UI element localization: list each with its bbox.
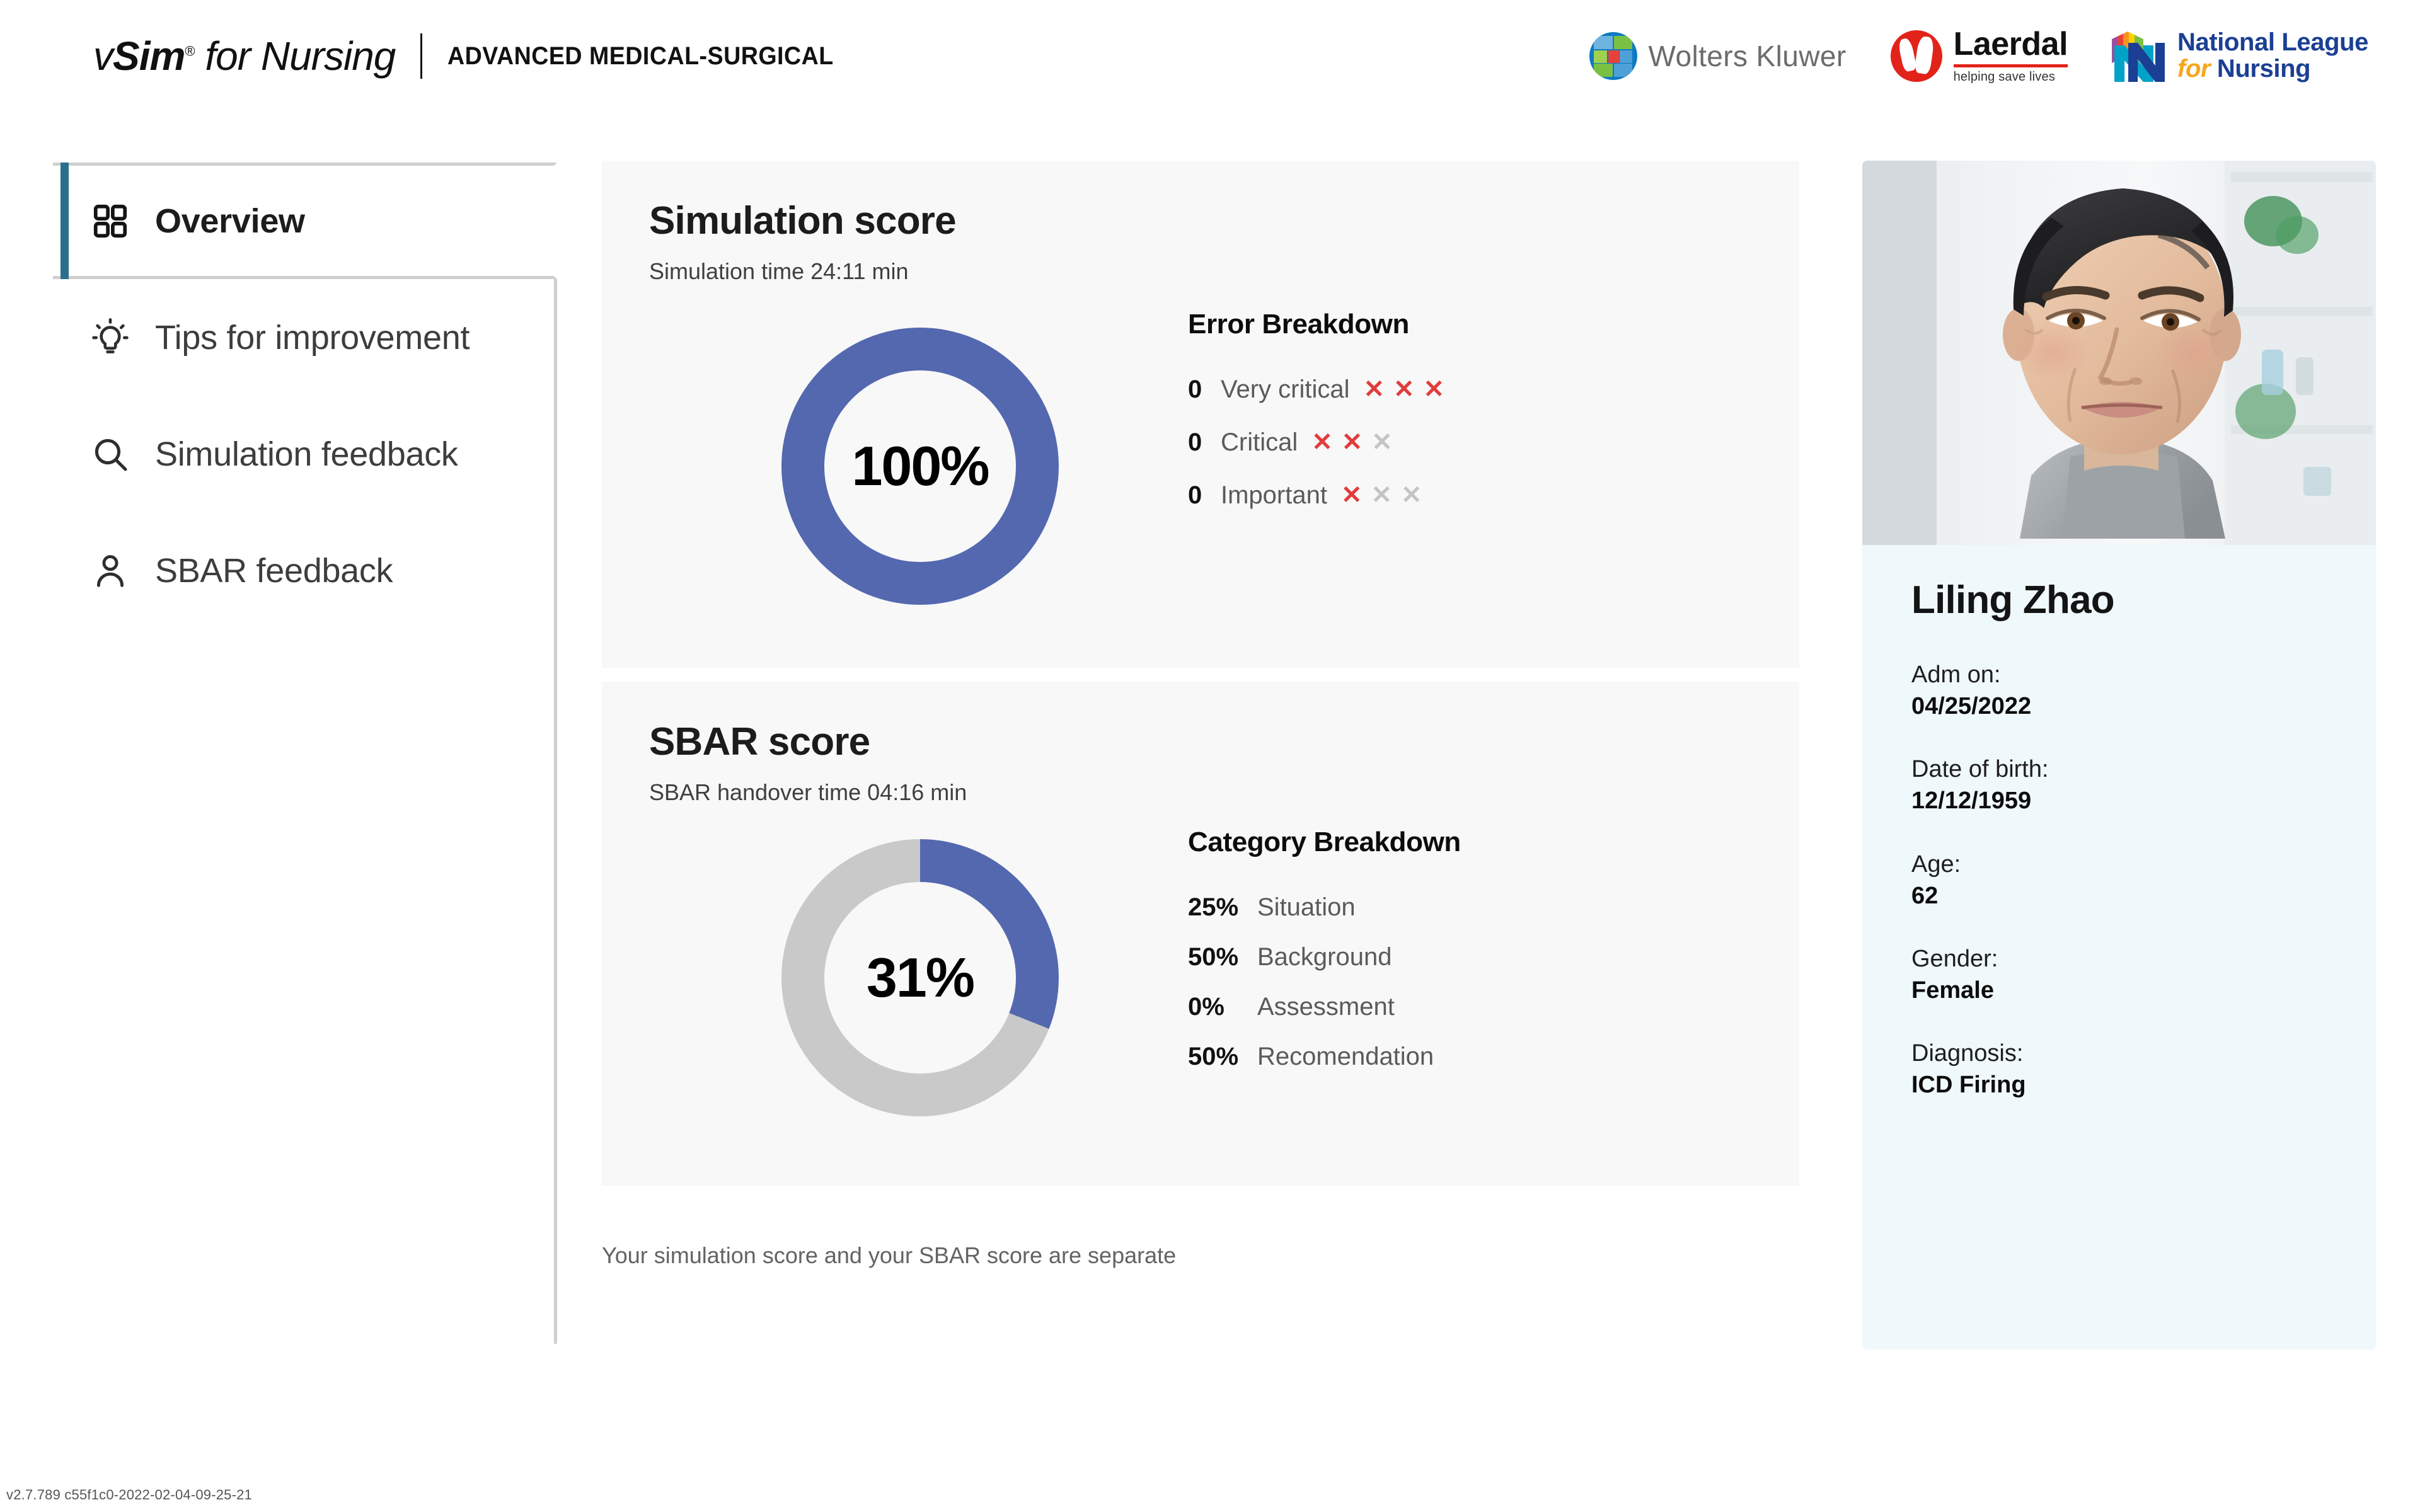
patient-field-date-of-birth: Date of birth: 12/12/1959 <box>1911 753 2327 816</box>
nln-line2-nursing: Nursing <box>2217 55 2310 83</box>
sbar-score-value: 31% <box>867 946 974 1010</box>
x-mark-icon: ✕ <box>1371 430 1393 455</box>
sidebar-item-overview[interactable]: Overview <box>53 163 557 279</box>
grid-icon <box>83 202 137 241</box>
donut-center: 100% <box>824 370 1016 562</box>
error-count: 0 <box>1188 481 1221 510</box>
sbar-score-donut: 31% <box>781 839 1059 1116</box>
patient-field-diagnosis: Diagnosis: ICD Firing <box>1911 1038 2327 1101</box>
error-label: Critical <box>1221 428 1298 457</box>
vsim-logo: vSim® for Nursing <box>93 33 395 79</box>
category-label: Background <box>1257 943 1391 971</box>
field-value: 62 <box>1911 880 2327 912</box>
wolters-kluwer-mark-icon <box>1589 32 1637 80</box>
field-value: 12/12/1959 <box>1911 785 2327 816</box>
category-percent: 50% <box>1188 943 1257 971</box>
patient-field-age: Age: 62 <box>1911 849 2327 912</box>
score-separation-note: Your simulation score and your SBAR scor… <box>602 1242 1176 1269</box>
sidebar-item-label: Overview <box>155 202 305 241</box>
national-league-for-nursing-logo: National League for Nursing <box>2112 29 2368 83</box>
brand-subtitle: ADVANCED MEDICAL-SURGICAL <box>447 42 834 71</box>
x-mark-icon: ✕ <box>1341 483 1363 508</box>
category-percent: 50% <box>1188 1043 1257 1071</box>
field-value: 04/25/2022 <box>1911 690 2327 722</box>
category-row: 0% Assessment <box>1188 993 1461 1043</box>
sbar-score-card: SBAR score SBAR handover time 04:16 min … <box>602 682 1799 1186</box>
patient-panel: Liling Zhao Adm on: 04/25/2022 Date of b… <box>1862 161 2376 1349</box>
person-icon <box>83 551 137 590</box>
field-value: Female <box>1911 975 2327 1006</box>
sbar-handover-time: SBAR handover time 04:16 min <box>649 779 967 806</box>
error-label: Important <box>1221 481 1327 510</box>
field-label: Gender: <box>1911 943 2327 975</box>
severity-marks: ✕ ✕ ✕ <box>1341 483 1422 508</box>
donut-ring: 31% <box>781 839 1059 1116</box>
app-version: v2.7.789 c55f1c0-2022-02-04-09-25-21 <box>6 1487 252 1503</box>
brand-strong: Sim <box>113 33 185 79</box>
category-label: Assessment <box>1257 993 1395 1021</box>
brand-prefix: v <box>93 33 113 79</box>
brand-suffix: for Nursing <box>195 33 396 79</box>
field-label: Adm on: <box>1911 659 2327 690</box>
avatar-illustration-icon <box>1862 161 2376 545</box>
category-row: 50% Recomendation <box>1188 1043 1461 1092</box>
patient-name: Liling Zhao <box>1911 578 2327 622</box>
patient-field-adm-on: Adm on: 04/25/2022 <box>1911 659 2327 722</box>
simulation-score-card: Simulation score Simulation time 24:11 m… <box>602 161 1799 668</box>
severity-marks: ✕ ✕ ✕ <box>1364 377 1445 402</box>
field-label: Diagnosis: <box>1911 1038 2327 1069</box>
laerdal-tagline: helping save lives <box>1954 70 2055 84</box>
field-label: Date of birth: <box>1911 753 2327 785</box>
error-row: 0 Very critical ✕ ✕ ✕ <box>1188 375 1444 428</box>
sidebar-item-tips-for-improvement[interactable]: Tips for improvement <box>53 279 554 396</box>
nln-line1: National League <box>2177 30 2368 56</box>
error-breakdown-title: Error Breakdown <box>1188 309 1444 340</box>
lightbulb-icon <box>83 317 137 358</box>
patient-avatar <box>1862 161 2376 545</box>
nln-mark-icon <box>2112 29 2166 83</box>
page-title: Simulation score <box>649 198 956 243</box>
category-label: Situation <box>1257 893 1356 922</box>
category-row: 50% Background <box>1188 943 1461 993</box>
error-row: 0 Critical ✕ ✕ ✕ <box>1188 428 1444 481</box>
sidebar-item-sbar-feedback[interactable]: SBAR feedback <box>53 512 554 629</box>
brand-lockup: vSim® for Nursing ADVANCED MEDICAL-SURGI… <box>93 33 858 79</box>
x-mark-icon: ✕ <box>1401 483 1422 508</box>
x-mark-icon: ✕ <box>1342 430 1363 455</box>
brand-divider <box>420 33 422 79</box>
category-row: 25% Situation <box>1188 893 1461 943</box>
sidebar-item-label: Tips for improvement <box>155 318 470 357</box>
nln-line2-for: for <box>2177 55 2217 83</box>
category-percent: 0% <box>1188 993 1257 1021</box>
laerdal-mark-icon <box>1891 30 1942 82</box>
x-mark-icon: ✕ <box>1393 377 1415 402</box>
registered-mark-icon: ® <box>185 43 194 59</box>
category-breakdown: Category Breakdown 25% Situation 50% Bac… <box>1188 827 1461 1092</box>
category-percent: 25% <box>1188 893 1257 922</box>
x-mark-icon: ✕ <box>1371 483 1392 508</box>
donut-ring: 100% <box>781 328 1059 605</box>
sbar-title: SBAR score <box>649 719 870 764</box>
sidebar-item-label: Simulation feedback <box>155 435 458 474</box>
simulation-score-donut: 100% <box>781 328 1059 605</box>
simulation-time: Simulation time 24:11 min <box>649 258 909 285</box>
wolters-kluwer-label: Wolters Kluwer <box>1649 39 1847 73</box>
error-breakdown: Error Breakdown 0 Very critical ✕ ✕ ✕ 0 … <box>1188 309 1444 534</box>
laerdal-label: Laerdal <box>1954 28 2068 60</box>
app-header: vSim® for Nursing ADVANCED MEDICAL-SURGI… <box>0 0 2420 135</box>
error-count: 0 <box>1188 428 1221 457</box>
patient-details: Liling Zhao Adm on: 04/25/2022 Date of b… <box>1862 545 2376 1101</box>
category-label: Recomendation <box>1257 1043 1434 1071</box>
error-count: 0 <box>1188 375 1221 404</box>
sidebar-item-simulation-feedback[interactable]: Simulation feedback <box>53 396 554 512</box>
error-label: Very critical <box>1221 375 1350 404</box>
sidebar-item-label: SBAR feedback <box>155 551 393 590</box>
category-breakdown-title: Category Breakdown <box>1188 827 1461 858</box>
partner-logos: Wolters Kluwer Laerdal helping save live… <box>1589 28 2369 84</box>
patient-field-gender: Gender: Female <box>1911 943 2327 1006</box>
severity-marks: ✕ ✕ ✕ <box>1311 430 1393 455</box>
sidebar-nav: Overview Tips for improvement Simulation… <box>53 163 557 1344</box>
donut-center: 31% <box>824 882 1016 1074</box>
error-row: 0 Important ✕ ✕ ✕ <box>1188 481 1444 534</box>
x-mark-icon: ✕ <box>1424 377 1445 402</box>
x-mark-icon: ✕ <box>1364 377 1385 402</box>
x-mark-icon: ✕ <box>1311 430 1333 455</box>
field-value: ICD Firing <box>1911 1069 2327 1101</box>
laerdal-logo: Laerdal helping save lives <box>1891 28 2068 84</box>
wolters-kluwer-logo: Wolters Kluwer <box>1589 32 1847 80</box>
field-label: Age: <box>1911 849 2327 880</box>
search-icon <box>83 434 137 474</box>
laerdal-rule <box>1954 64 2068 67</box>
simulation-score-value: 100% <box>851 434 988 498</box>
